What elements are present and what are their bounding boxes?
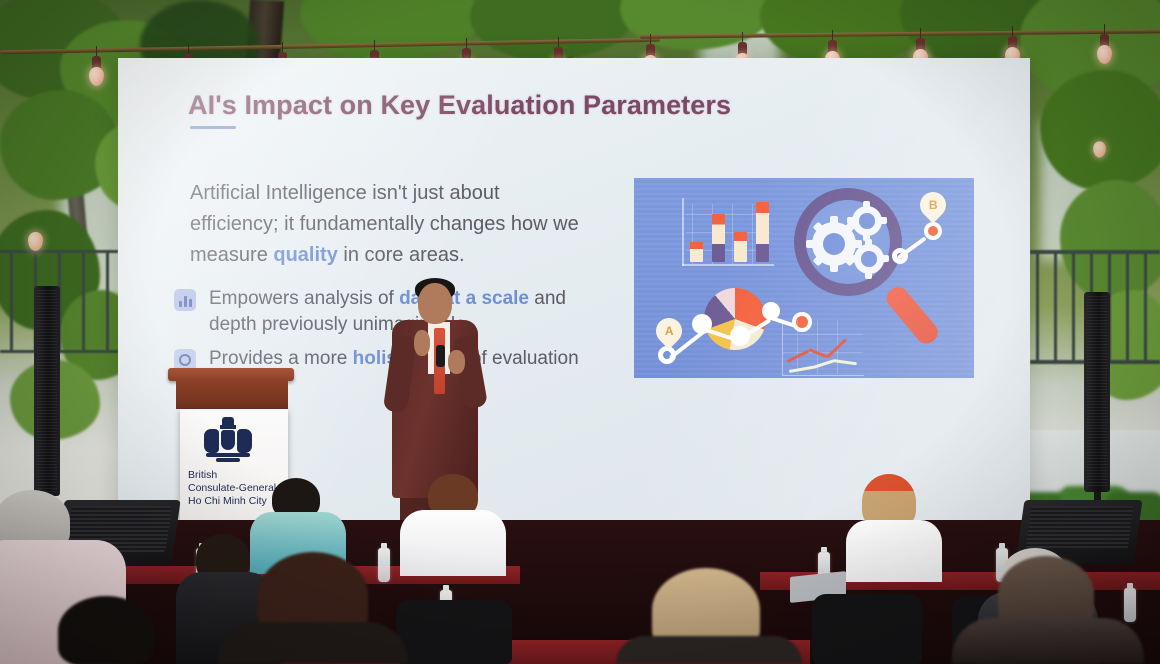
network-node <box>762 302 780 320</box>
speaker-hand-right <box>448 350 465 374</box>
illustration-line-chart <box>782 320 864 376</box>
water-bottle <box>378 548 390 582</box>
paragraph-text-2: in core areas. <box>338 244 465 266</box>
foliage <box>1040 70 1160 190</box>
microphone <box>436 345 445 367</box>
bullet-1-text-1: Empowers analysis of <box>209 288 399 309</box>
map-pin-b-label: B <box>929 198 938 212</box>
podium-branding-text: British Consulate-General Ho Chi Minh Ci… <box>188 469 276 508</box>
branding-line-1: British <box>188 469 276 482</box>
podium-top <box>168 368 294 381</box>
network-node <box>658 346 676 364</box>
branding-line-3: Ho Chi Minh City <box>188 495 276 508</box>
network-node <box>892 248 908 264</box>
slide-bullet-1: Empowers analysis of data at a scale and… <box>174 286 594 338</box>
presentation-photo: AI's Impact on Key Evaluation Parameters… <box>0 0 1160 664</box>
speaker-hand-left <box>414 330 430 356</box>
chair <box>396 600 512 664</box>
chair <box>812 594 922 664</box>
paragraph-highlight: quality <box>273 244 337 266</box>
pa-speaker-right <box>1084 292 1110 492</box>
bullet-2-text-2: of evaluation <box>466 348 579 369</box>
slide-title: AI's Impact on Key Evaluation Parameters <box>188 90 731 121</box>
map-pin-a-label: A <box>665 324 674 338</box>
data-analytics-illustration: A B <box>634 178 974 378</box>
illustration-bar-chart <box>682 198 774 266</box>
royal-coat-of-arms-crest <box>200 417 254 465</box>
speaker-head <box>418 283 452 324</box>
bar-chart-icon <box>174 289 196 311</box>
branding-line-2: Consulate-General <box>188 482 276 495</box>
slide-paragraph: Artificial Intelligence isn't just about… <box>190 178 590 271</box>
network-node <box>730 326 750 346</box>
magnifying-glass-icon <box>794 188 902 296</box>
network-node <box>692 314 712 334</box>
podium-body <box>176 381 288 409</box>
pa-speaker-left <box>34 286 60 496</box>
water-bottle <box>1124 588 1136 622</box>
gear-icon <box>852 206 882 236</box>
title-underline <box>190 126 236 129</box>
network-node <box>924 222 942 240</box>
gear-icon <box>854 244 884 274</box>
bullet-2-text-1: Provides a more <box>209 348 353 369</box>
